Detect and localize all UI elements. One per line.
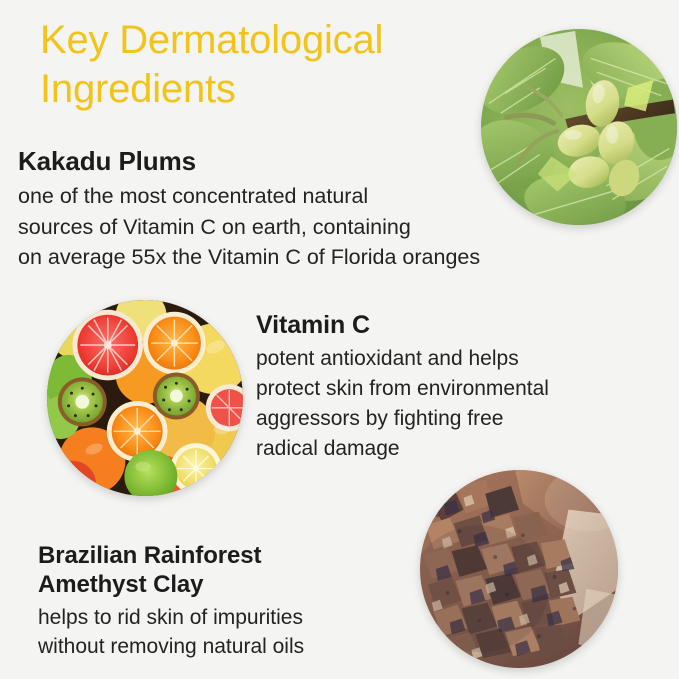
ingredient-block-amethyst-clay: Brazilian Rainforest Amethyst Clay helps… [38, 541, 428, 662]
ingredient-heading: Brazilian Rainforest Amethyst Clay [38, 541, 428, 600]
amethyst-clay-photo [420, 470, 618, 668]
ingredient-description: one of the most concentrated natural sou… [18, 181, 618, 273]
ingredient-block-kakadu-plums: Kakadu Plums one of the most concentrate… [18, 146, 618, 273]
citrus-fruit-illustration [47, 300, 243, 496]
ingredient-heading: Kakadu Plums [18, 146, 618, 177]
ingredient-block-vitamin-c: Vitamin C potent antioxidant and helps p… [256, 310, 656, 464]
amethyst-clay-illustration [420, 470, 618, 668]
ingredient-heading: Vitamin C [256, 310, 656, 340]
citrus-fruit-photo [47, 300, 243, 496]
page-title: Key Dermatological Ingredients [40, 16, 490, 114]
ingredient-description: potent antioxidant and helps protect ski… [256, 344, 656, 464]
ingredient-description: helps to rid skin of impurities without … [38, 603, 428, 663]
infographic-page: Key Dermatological Ingredients [0, 0, 679, 679]
